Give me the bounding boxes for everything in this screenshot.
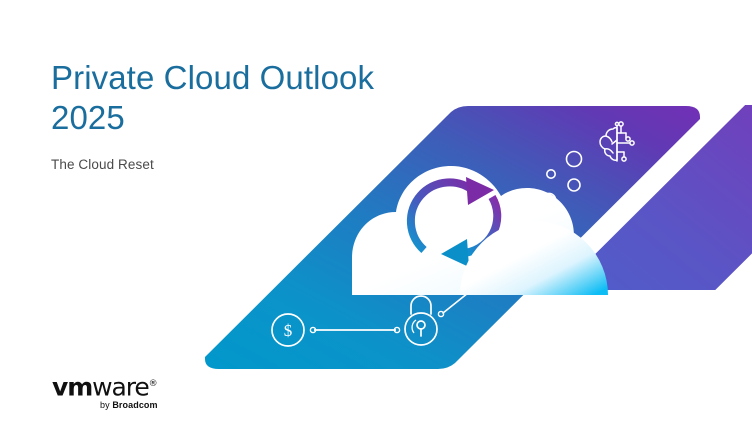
vmware-logo: vmware® by Broadcom (52, 372, 158, 411)
page-subtitle: The Cloud Reset (51, 156, 381, 174)
vmware-wordmark: vmware® (52, 372, 158, 399)
wordmark-vm: vm (52, 372, 92, 401)
byline-broadcom: Broadcom (112, 400, 157, 410)
registered-mark: ® (149, 379, 158, 389)
wordmark-ware: ware (92, 372, 148, 401)
page-title: Private Cloud Outlook 2025 (51, 58, 381, 138)
title-block: Private Cloud Outlook 2025 The Cloud Res… (51, 58, 381, 174)
base-strip (350, 290, 612, 296)
slide-canvas: $ (0, 0, 752, 423)
logo-byline: by Broadcom (52, 400, 158, 411)
byline-by: by (100, 400, 112, 410)
svg-text:$: $ (284, 321, 293, 340)
